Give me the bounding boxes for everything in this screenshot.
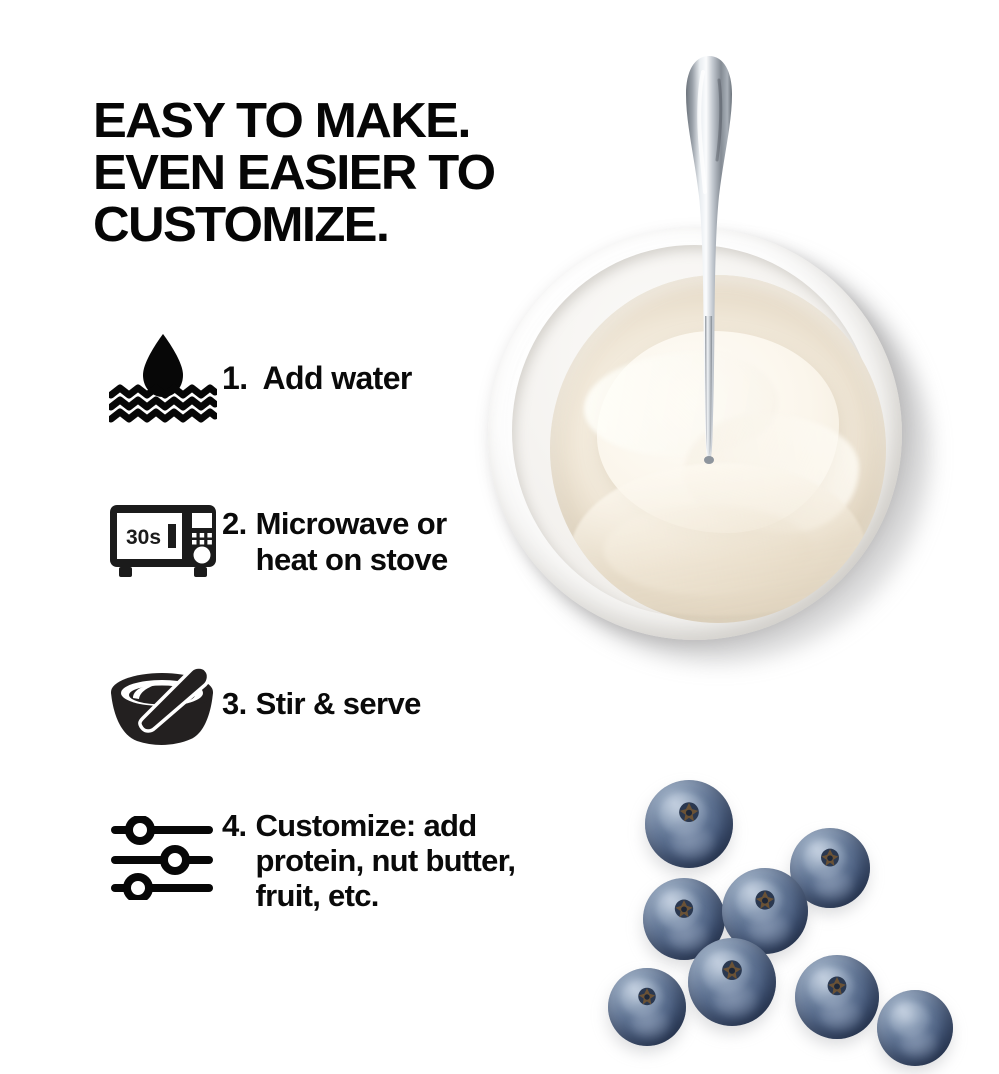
- step-item-stir-serve: 3. Stir & serve: [104, 662, 421, 746]
- blueberry: [795, 955, 879, 1039]
- water-drop-waves-icon: [109, 330, 217, 426]
- step-2-number: 2.: [222, 506, 247, 542]
- blueberry: [722, 868, 808, 954]
- step-4-label: Customize: add protein, nut butter, frui…: [255, 808, 515, 913]
- step-1-label: Add water: [263, 360, 412, 396]
- headline: EASY TO MAKE. EVEN EASIER TO CUSTOMIZE.: [93, 95, 613, 251]
- step-2-label: Microwave or heat on stove: [256, 506, 448, 578]
- blueberry: [688, 938, 776, 1026]
- step-item-microwave: 30s 2. Microwave or heat on stove: [104, 502, 448, 582]
- step-2-label-line-2: heat on stove: [256, 542, 448, 577]
- step-4-label-line-3: fruit, etc.: [255, 878, 378, 913]
- step-4-label-line-1: Customize: add: [255, 808, 476, 843]
- blueberry-calyx-icon: [676, 800, 702, 825]
- step-2-label-line-1: Microwave or: [256, 506, 447, 541]
- microwave-icon: 30s: [107, 502, 219, 582]
- step-item-customize: 4. Customize: add protein, nut butter, f…: [104, 808, 515, 913]
- blueberry-calyx-icon: [719, 958, 745, 983]
- step-2-icon-wrap: 30s: [104, 502, 222, 582]
- mortar-pestle-icon: [107, 662, 219, 746]
- poster-canvas: EASY TO MAKE. EVEN EASIER TO CUSTOMIZE. …: [0, 0, 999, 1000]
- blueberry: [790, 828, 870, 908]
- blueberry: [643, 878, 725, 960]
- headline-line-3: CUSTOMIZE.: [93, 199, 631, 251]
- step-3-number: 3.: [222, 686, 247, 722]
- headline-line-2: EVEN EASIER TO: [93, 147, 631, 199]
- porridge-swirl: [604, 505, 812, 595]
- headline-line-1: EASY TO MAKE.: [93, 95, 631, 147]
- blueberry: [877, 990, 953, 1066]
- blueberry: [645, 780, 733, 868]
- blueberry-calyx-icon: [635, 986, 658, 1008]
- step-3-label: Stir & serve: [256, 686, 421, 722]
- microwave-timer-text: 30s: [126, 526, 161, 549]
- step-item-add-water: 1. Add water: [104, 330, 412, 426]
- step-1-text: 1. Add water: [222, 360, 412, 396]
- blueberry-calyx-icon: [752, 888, 778, 912]
- metal-spoon-icon: [672, 50, 746, 470]
- step-4-label-line-2: protein, nut butter,: [255, 843, 515, 878]
- blueberry-calyx-icon: [818, 846, 842, 868]
- step-4-number: 4.: [222, 808, 246, 843]
- blueberry-calyx-icon: [824, 974, 849, 998]
- step-1-number: 1.: [222, 360, 248, 396]
- step-4-icon-wrap: [104, 808, 222, 900]
- step-4-text: 4. Customize: add protein, nut butter, f…: [222, 808, 515, 913]
- step-3-text: 3. Stir & serve: [222, 686, 421, 722]
- step-2-text: 2. Microwave or heat on stove: [222, 506, 448, 578]
- step-3-icon-wrap: [104, 662, 222, 746]
- blueberry-calyx-icon: [672, 897, 697, 920]
- blueberry: [608, 968, 686, 1046]
- bowl-of-porridge-photo: [476, 218, 928, 666]
- step-1-icon-wrap: [104, 330, 222, 426]
- sliders-icon: [109, 816, 217, 900]
